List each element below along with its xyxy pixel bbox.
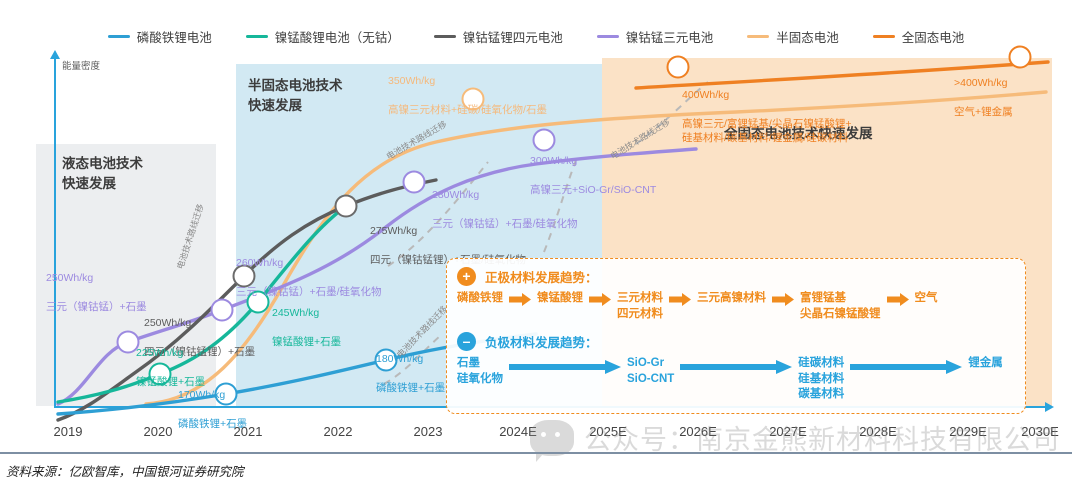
- label-value: 260Wh/kg: [236, 256, 382, 270]
- legend-label-all-solid: 全固态电池: [902, 27, 965, 46]
- label-material: 三元（镍钴锰）+石墨/硅氧化物: [236, 285, 382, 299]
- cathode-item-3: 三元高镍材料: [697, 291, 766, 307]
- legend-item-lfp[interactable]: 磷酸铁锂电池: [108, 27, 212, 46]
- xtick-2030E: 2030E: [1021, 424, 1059, 439]
- arrow-right-icon: [772, 293, 794, 306]
- label-value: 180Wh/kg: [376, 352, 445, 366]
- minus-icon: –: [457, 332, 476, 351]
- x-axis-ticks: 2019 2020 2021 2022 2023 2024E 2025E 202…: [36, 424, 1052, 444]
- legend-item-all-solid[interactable]: 全固态电池: [873, 27, 965, 46]
- arrow-long-right-icon: [850, 360, 962, 374]
- label-all-solid-gt400: >400Wh/kg 空气+锂金属: [954, 62, 1013, 133]
- xtick-2022: 2022: [324, 424, 353, 439]
- legend-label-semi-solid: 半固态电池: [776, 27, 839, 46]
- legend-item-ncm[interactable]: 镍钴锰三元电池: [597, 27, 714, 46]
- xtick-2029E: 2029E: [949, 424, 987, 439]
- xtick-2019: 2019: [54, 424, 83, 439]
- label-material: 三元（镍钴锰）+石墨/硅氧化物: [432, 217, 578, 231]
- anode-item-1: SiO-Gr SiO-CNT: [627, 356, 674, 387]
- label-material: 磷酸铁锂+石墨: [376, 381, 445, 395]
- anode-item-0: 石墨 硅氧化物: [457, 356, 503, 387]
- label-value: 300Wh/kg: [530, 154, 656, 168]
- cathode-item-5: 空气: [915, 291, 938, 307]
- anode-title: 负极材料发展趋势：: [485, 332, 598, 351]
- legend-swatch-lnmo: [246, 35, 268, 38]
- label-material: 空气+锂金属: [954, 105, 1013, 119]
- xtick-2023: 2023: [414, 424, 443, 439]
- xtick-2025E: 2025E: [589, 424, 627, 439]
- arrow-right-icon: [887, 293, 909, 306]
- label-material: 高镍三元/富锂锰基/尖晶石镍锰酸锂+ 硅基材料/碳基材料/锂金属/硅碳材料: [682, 117, 851, 145]
- cathode-item-0: 磷酸铁锂: [457, 291, 503, 307]
- anode-item-2: 硅碳材料 硅基材料 碳基材料: [798, 356, 844, 403]
- legend-swatch-ncml: [434, 35, 456, 38]
- label-material: 三元（镍钴锰）+石墨: [46, 300, 147, 314]
- marker-ncm-2023[interactable]: [403, 171, 426, 194]
- label-value: 170Wh/kg: [178, 388, 247, 402]
- legend-label-ncm: 镍钴锰三元电池: [626, 27, 714, 46]
- legend-swatch-semi-solid: [747, 35, 769, 38]
- legend-label-lfp: 磷酸铁锂电池: [137, 27, 212, 46]
- arrow-right-icon: [669, 293, 691, 306]
- material-trend-box: + 正极材料发展趋势： 磷酸铁锂 镍锰酸锂 三元材料 四元材料 三元高镍材料 富…: [446, 258, 1026, 414]
- cathode-header: + 正极材料发展趋势：: [457, 267, 1015, 286]
- cathode-item-4: 富锂锰基 尖晶石镍锰酸锂: [800, 291, 881, 322]
- label-material: 镍锰酸锂+石墨: [272, 335, 341, 349]
- arrow-right-icon: [509, 293, 531, 306]
- legend-swatch-lfp: [108, 35, 130, 38]
- anode-item-3: 锂金属: [968, 356, 1003, 372]
- label-value: >400Wh/kg: [954, 76, 1013, 90]
- cathode-chain: 磷酸铁锂 镍锰酸锂 三元材料 四元材料 三元高镍材料 富锂锰基 尖晶石镍锰酸锂 …: [457, 291, 1015, 322]
- cathode-item-2: 三元材料 四元材料: [617, 291, 663, 322]
- label-ncm-250: 250Wh/kg 三元（镍钴锰）+石墨: [46, 257, 147, 328]
- plus-icon: +: [457, 267, 476, 286]
- legend-swatch-ncm: [597, 35, 619, 38]
- legend-label-lnmo: 镍锰酸锂电池（无钴）: [275, 27, 400, 46]
- cathode-title: 正极材料发展趋势：: [485, 267, 598, 286]
- xtick-2020: 2020: [144, 424, 173, 439]
- xtick-2024E: 2024E: [499, 424, 537, 439]
- legend-label-ncml: 镍钴锰锂四元电池: [463, 27, 563, 46]
- chart-legend: 磷酸铁锂电池 镍锰酸锂电池（无钴） 镍钴锰锂四元电池 镍钴锰三元电池 半固态电池…: [0, 24, 1072, 48]
- legend-item-ncml[interactable]: 镍钴锰锂四元电池: [434, 27, 563, 46]
- xtick-2027E: 2027E: [769, 424, 807, 439]
- label-value: 225Wh/kg: [136, 346, 205, 360]
- arrow-long-right-icon: [509, 360, 621, 374]
- label-value: 250Wh/kg: [144, 316, 255, 330]
- anode-chain: 石墨 硅氧化物 SiO-Gr SiO-CNT 硅碳材料 硅基材料 碳基材料 锂金…: [457, 356, 1015, 403]
- label-material: 高镍三元材料+硅碳/硅氧化物/石墨: [388, 103, 547, 117]
- label-value: 400Wh/kg: [682, 88, 851, 102]
- label-value: 350Wh/kg: [388, 74, 547, 88]
- label-value: 250Wh/kg: [46, 271, 147, 285]
- xtick-2026E: 2026E: [679, 424, 717, 439]
- chart-root: 磷酸铁锂电池 镍锰酸锂电池（无钴） 镍钴锰锂四元电池 镍钴锰三元电池 半固态电池…: [0, 0, 1072, 484]
- cathode-item-1: 镍锰酸锂: [537, 291, 583, 307]
- anode-header: – 负极材料发展趋势：: [457, 332, 1015, 351]
- label-all-solid-400: 400Wh/kg 高镍三元/富锂锰基/尖晶石镍锰酸锂+ 硅基材料/碳基材料/锂金…: [682, 74, 851, 159]
- arrow-long-right-icon: [680, 360, 792, 374]
- legend-swatch-all-solid: [873, 35, 895, 38]
- label-material: 高镍三元+SiO-Gr/SiO-CNT: [530, 183, 656, 197]
- label-ncm-300: 300Wh/kg 高镍三元+SiO-Gr/SiO-CNT: [530, 140, 656, 211]
- marker-ncml-2022[interactable]: [335, 195, 358, 218]
- xtick-2028E: 2028E: [859, 424, 897, 439]
- footer-divider: [0, 452, 1072, 454]
- source-note: 资料来源：亿欧智库，中国银河证券研究院: [6, 461, 244, 480]
- label-semi-solid-350: 350Wh/kg 高镍三元材料+硅碳/硅氧化物/石墨: [388, 60, 547, 131]
- xtick-2021: 2021: [234, 424, 263, 439]
- arrow-right-icon: [589, 293, 611, 306]
- label-ncm-260: 260Wh/kg 三元（镍钴锰）+石墨/硅氧化物: [236, 242, 382, 313]
- legend-item-lnmo[interactable]: 镍锰酸锂电池（无钴）: [246, 27, 400, 46]
- legend-item-semi-solid[interactable]: 半固态电池: [747, 27, 839, 46]
